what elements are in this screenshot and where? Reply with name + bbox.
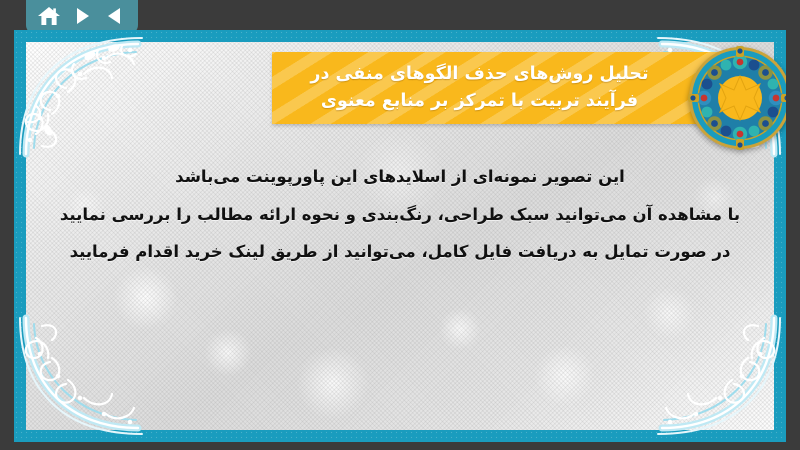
home-button[interactable] — [36, 4, 62, 28]
body-line-2: با مشاهده آن می‌توانید سبک طراحی، رنگ‌بن… — [38, 196, 762, 234]
slide-title-line-2: فرآیند تربیت با تمرکز بر منابع معنوی — [321, 88, 638, 115]
slide-title-line-1: تحلیل روش‌های حذف الگوهای منفی در — [310, 61, 648, 88]
body-line-3: در صورت تمایل به دریافت فایل کامل، می‌تو… — [38, 233, 762, 271]
slide-navigation-bar — [26, 0, 138, 34]
slide-canvas: تحلیل روش‌های حذف الگوهای منفی در فرآیند… — [14, 30, 786, 442]
previous-slide-button[interactable] — [102, 4, 128, 28]
triangle-left-icon — [104, 5, 126, 27]
slide-title: تحلیل روش‌های حذف الگوهای منفی در فرآیند… — [272, 52, 727, 124]
presentation-viewer: تحلیل روش‌های حذف الگوهای منفی در فرآیند… — [0, 0, 800, 450]
slide-title-banner: تحلیل روش‌های حذف الگوهای منفی در فرآیند… — [272, 52, 727, 124]
triangle-right-icon — [71, 5, 93, 27]
next-slide-button[interactable] — [69, 4, 95, 28]
home-icon — [37, 5, 61, 27]
body-line-1: این تصویر نمونه‌ای از اسلایدهای این پاور… — [38, 158, 762, 196]
slide-body-text: این تصویر نمونه‌ای از اسلایدهای این پاور… — [38, 158, 762, 271]
persian-medallion-ornament — [688, 46, 786, 150]
